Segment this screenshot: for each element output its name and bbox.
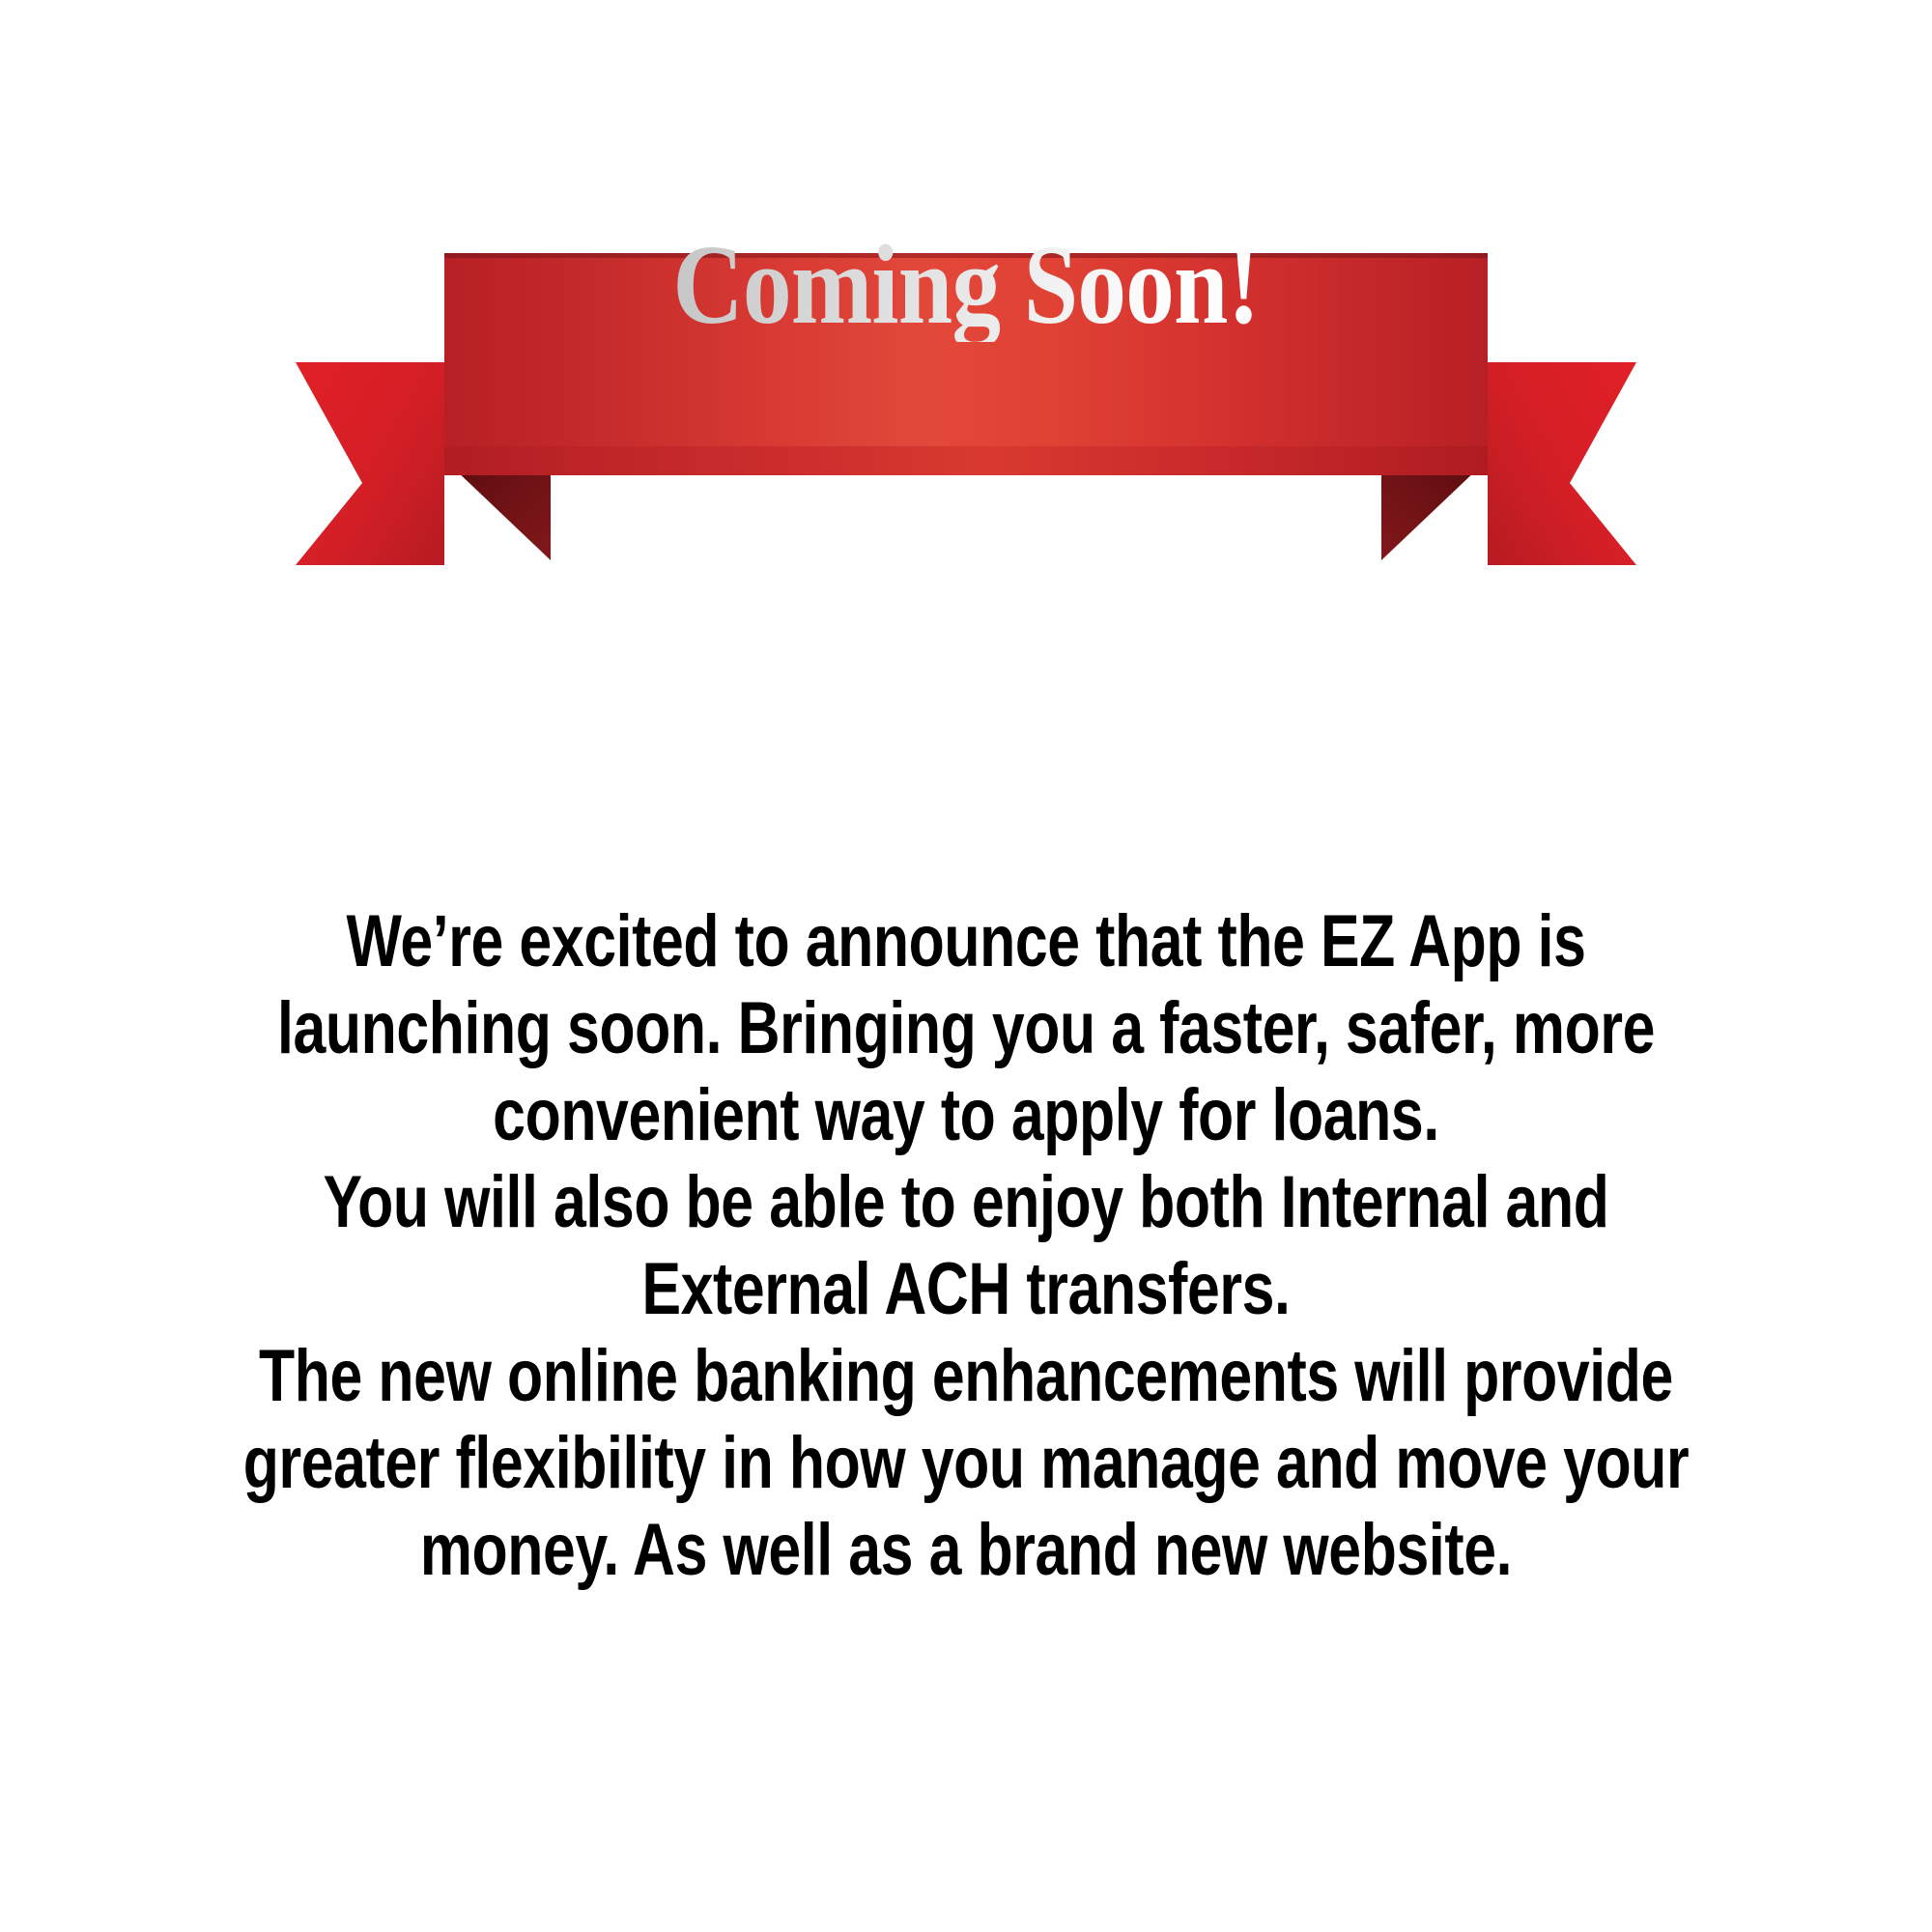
announcement-line-4: You will also be able to enjoy both Inte… [193, 1159, 1739, 1246]
announcement-graphic: Coming Soon! We’re excited to announce t… [0, 0, 1932, 1932]
announcement-line-6: The new online banking enhancements will… [193, 1333, 1739, 1420]
announcement-line-5: External ACH transfers. [193, 1246, 1739, 1333]
announcement-line-1: We’re excited to announce that the EZ Ap… [193, 898, 1739, 985]
ribbon-shape-icon [0, 0, 1932, 638]
ribbon-banner: Coming Soon! [0, 0, 1932, 638]
announcement-text: We’re excited to announce that the EZ Ap… [0, 898, 1932, 1594]
announcement-line-3: convenient way to apply for loans. [193, 1072, 1739, 1159]
announcement-line-8: money. As well as a brand new website. [193, 1507, 1739, 1594]
announcement-line-7: greater flexibility in how you manage an… [193, 1420, 1739, 1507]
announcement-line-2: launching soon. Bringing you a faster, s… [193, 985, 1739, 1072]
